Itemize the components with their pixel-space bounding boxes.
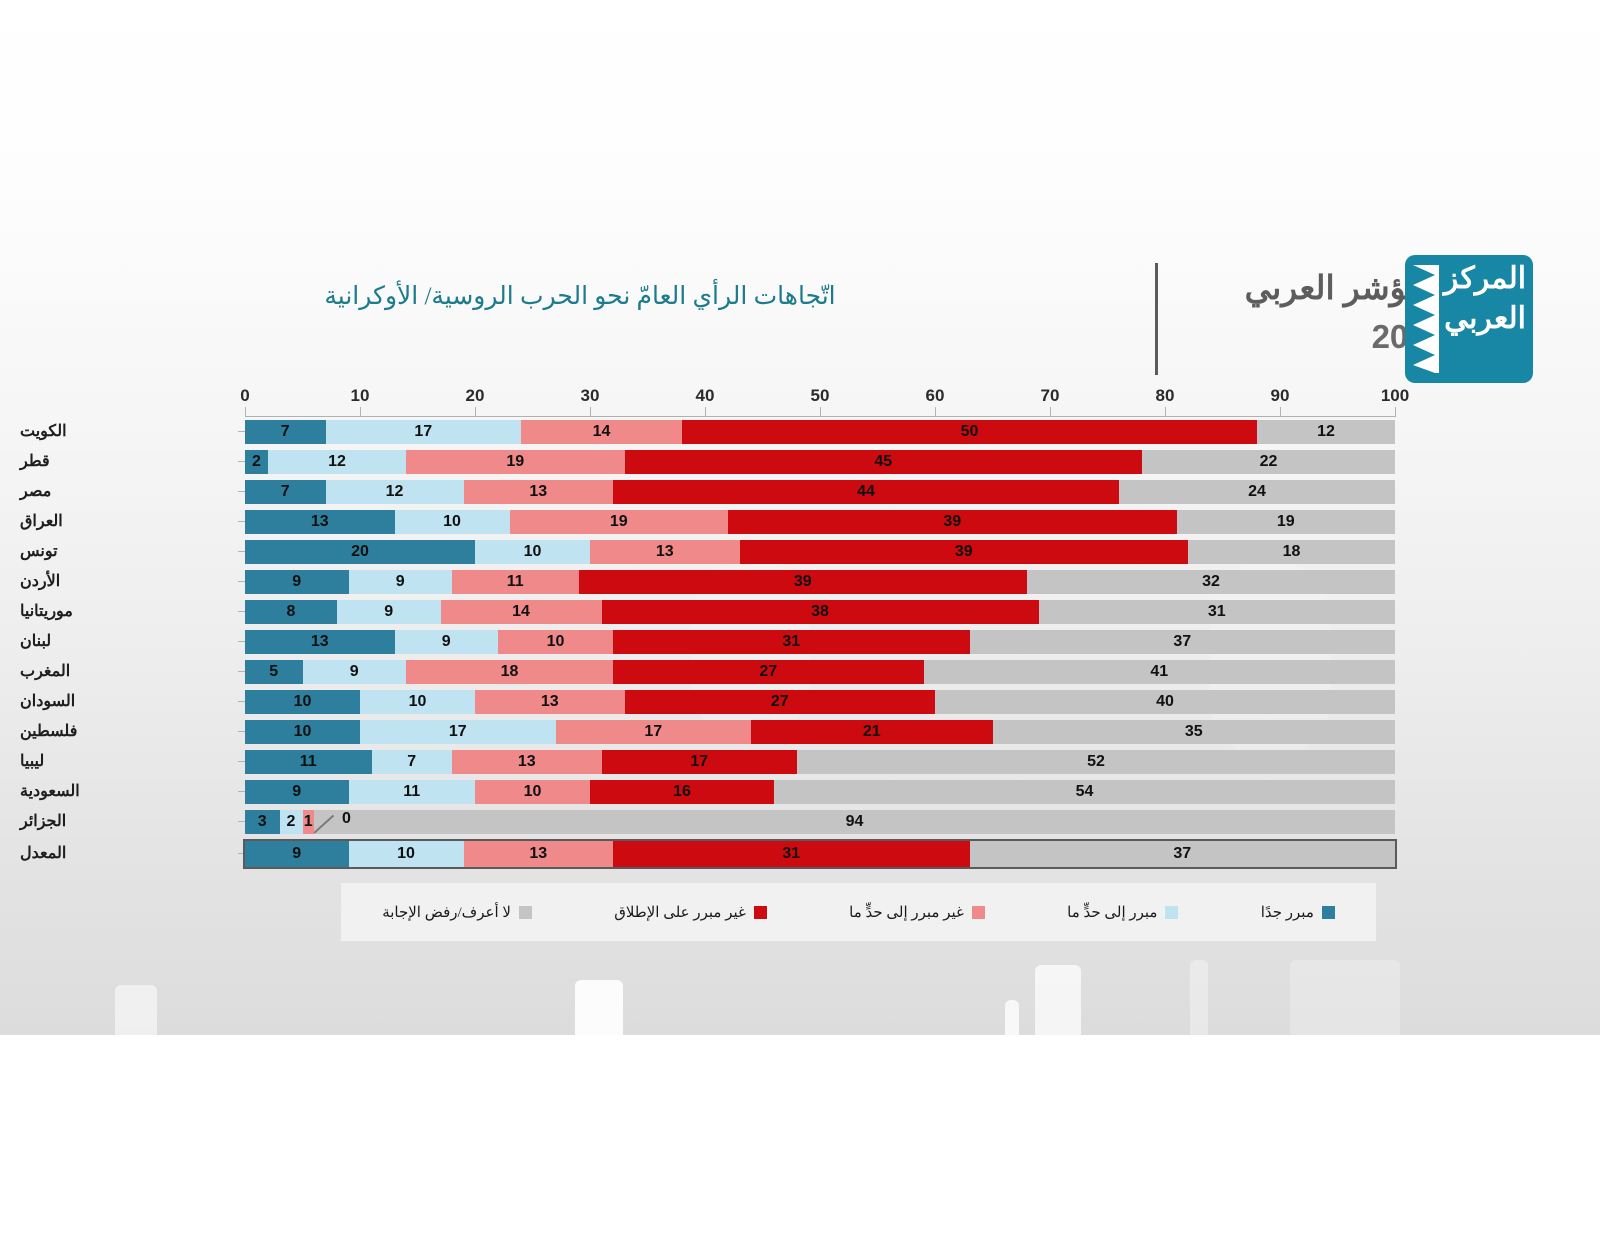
bar-segment[interactable]: 14	[521, 420, 682, 444]
stacked-bar[interactable]: 1010132740	[245, 690, 1395, 714]
bar-value-label: 40	[1156, 693, 1174, 711]
bar-segment[interactable]: 31	[1039, 600, 1396, 624]
bar-segment[interactable]: 9	[395, 630, 499, 654]
bar-value-label: 2	[252, 453, 261, 471]
bar-value-label: 13	[311, 513, 329, 531]
y-tickmark	[238, 521, 245, 522]
x-tick-label: 70	[1020, 385, 1080, 407]
x-tick-label: 50	[790, 385, 850, 407]
chart-row: قطر212194522	[0, 447, 1600, 477]
bar-value-label: 14	[593, 423, 611, 441]
bar-segment[interactable]: 40	[935, 690, 1395, 714]
bar-value-label: 9	[442, 633, 451, 651]
category-label: فلسطين	[20, 717, 225, 747]
bar-segment[interactable]: 22	[1142, 450, 1395, 474]
background-shape	[1290, 960, 1400, 1100]
bar-value-label: 17	[644, 723, 662, 741]
bar-segment[interactable]: 9	[245, 780, 349, 804]
bar-segment[interactable]: 9	[303, 660, 407, 684]
chart-row: فلسطين1017172135	[0, 717, 1600, 747]
bar-segment[interactable]: 1	[303, 810, 315, 834]
bar-value-label: 7	[281, 483, 290, 501]
bar-segment[interactable]: 10	[475, 780, 590, 804]
bar-segment[interactable]: 2	[280, 810, 303, 834]
bar-value-label: 27	[771, 693, 789, 711]
chart-row: لبنان139103137	[0, 627, 1600, 657]
bar-segment[interactable]: 17	[360, 720, 556, 744]
logo-arabic-text: المركز العربي	[1441, 259, 1529, 379]
x-tick-label: 20	[445, 385, 505, 407]
y-tickmark	[238, 853, 245, 854]
bar-value-label: 17	[690, 753, 708, 771]
bar-value-label: 10	[547, 633, 565, 651]
x-tickmark	[360, 407, 361, 416]
bar-value-label: 37	[1173, 633, 1191, 651]
bar-segment[interactable]: 13	[452, 750, 602, 774]
y-tickmark	[238, 431, 245, 432]
bar-value-label: 41	[1150, 663, 1168, 681]
legend-label: مبرر إلى حدٍّ ما	[1067, 903, 1157, 922]
x-tick-label: 80	[1135, 385, 1195, 407]
bar-value-label: 5	[269, 663, 278, 681]
bar-segment[interactable]: 11	[452, 570, 579, 594]
background-shape	[115, 985, 157, 1105]
bar-segment[interactable]: 10	[245, 690, 360, 714]
bar-segment[interactable]: 38	[602, 600, 1039, 624]
legend-swatch	[1322, 906, 1335, 919]
bar-segment[interactable]: 21	[751, 720, 993, 744]
bar-value-label: 10	[397, 845, 415, 863]
bar-value-label: 9	[396, 573, 405, 591]
bar-segment[interactable]: 14	[441, 600, 602, 624]
bar-value-label: 10	[294, 693, 312, 711]
y-tickmark	[238, 731, 245, 732]
bar-value-label: 10	[443, 513, 461, 531]
bar-segment[interactable]: 9	[245, 841, 349, 867]
bar-value-label: 22	[1260, 453, 1278, 471]
bar-segment[interactable]: 50	[682, 420, 1257, 444]
x-tick-label: 60	[905, 385, 965, 407]
stacked-bar[interactable]: 1017172135	[245, 720, 1395, 744]
stacked-bar[interactable]: 717145012	[245, 420, 1395, 444]
bar-value-label: 13	[656, 543, 674, 561]
x-tickmark	[705, 407, 706, 416]
chart-row: الكويت717145012	[0, 417, 1600, 447]
bar-segment[interactable]: 37	[970, 630, 1396, 654]
bar-segment[interactable]: 13	[245, 510, 395, 534]
bar-value-label: 94	[846, 813, 864, 831]
x-tick-label: 10	[330, 385, 390, 407]
brand-year: 2022	[1165, 313, 1445, 361]
stacked-bar[interactable]: 212194522	[245, 450, 1395, 474]
bar-value-label: 18	[1283, 543, 1301, 561]
stacked-bar[interactable]: 139103137	[245, 630, 1395, 654]
x-tickmark	[1050, 407, 1051, 416]
bar-value-label: 44	[857, 483, 875, 501]
bar-segment[interactable]: 13	[475, 690, 625, 714]
category-label: السودان	[20, 687, 225, 717]
bar-segment[interactable]: 24	[1119, 480, 1395, 504]
slide: اتّجاهات الرأي العامّ نحو الحرب الروسية/…	[0, 0, 1600, 1236]
bar-segment[interactable]: 13	[464, 841, 614, 867]
bar-segment[interactable]: 18	[1188, 540, 1395, 564]
bar-value-label: 12	[1317, 423, 1335, 441]
bar-segment[interactable]: 17	[556, 720, 752, 744]
category-label: ليبيا	[20, 747, 225, 777]
y-tickmark	[238, 611, 245, 612]
bar-value-label: 16	[673, 783, 691, 801]
bar-segment[interactable]: 7	[245, 420, 326, 444]
bar-segment[interactable]: 19	[1177, 510, 1396, 534]
stacked-bar[interactable]: 1310193919	[245, 510, 1395, 534]
bar-segment[interactable]: 27	[625, 690, 936, 714]
bar-value-label: 20	[351, 543, 369, 561]
bar-segment[interactable]: 12	[1257, 420, 1395, 444]
bar-segment[interactable]: 35	[993, 720, 1396, 744]
bar-value-label: 9	[292, 573, 301, 591]
x-tickmark	[1280, 407, 1281, 416]
bar-value-label: 7	[407, 753, 416, 771]
legend-swatch	[972, 906, 985, 919]
legend-swatch	[519, 906, 532, 919]
bar-value-label: 10	[524, 543, 542, 561]
background-shape	[1005, 1000, 1019, 1050]
bar-value-label: 21	[863, 723, 881, 741]
bar-value-label: 13	[311, 633, 329, 651]
bar-value-label: 54	[1076, 783, 1094, 801]
bar-segment[interactable]: 52	[797, 750, 1395, 774]
bar-value-label: 10	[524, 783, 542, 801]
bar-value-label: 37	[1173, 845, 1191, 863]
bar-segment[interactable]: 7	[372, 750, 453, 774]
y-tickmark	[238, 761, 245, 762]
bar-value-label: 13	[529, 483, 547, 501]
x-tick-label: 40	[675, 385, 735, 407]
bar-value-label: 9	[292, 783, 301, 801]
bar-value-label: 14	[512, 603, 530, 621]
chart-rows: الكويت717145012قطر212194522مصر712134424ا…	[0, 417, 1600, 871]
category-label: الأردن	[20, 567, 225, 597]
bar-value-label: 39	[955, 543, 973, 561]
bar-segment[interactable]: 13	[590, 540, 740, 564]
bar-value-label: 2	[287, 813, 296, 831]
x-tickmark	[820, 407, 821, 416]
bar-value-label: 52	[1087, 753, 1105, 771]
bar-segment[interactable]: 10	[245, 720, 360, 744]
chart-row: تونس2010133918	[0, 537, 1600, 567]
chart-row: الجزائر321940	[0, 807, 1600, 837]
chart-row: مصر712134424	[0, 477, 1600, 507]
bar-segment[interactable]: 27	[613, 660, 924, 684]
bar-value-label: 13	[529, 845, 547, 863]
chart-row: المغرب59182741	[0, 657, 1600, 687]
logo-zigzag-icon	[1413, 265, 1439, 373]
bar-segment[interactable]: 12	[268, 450, 406, 474]
legend-label: مبرر جدًا	[1261, 903, 1314, 922]
y-tickmark	[238, 491, 245, 492]
bar-value-label: 11	[403, 783, 420, 801]
bar-value-label: 8	[287, 603, 296, 621]
bar-segment[interactable]: 37	[970, 841, 1396, 867]
category-label: العراق	[20, 507, 225, 537]
x-tickmark	[590, 407, 591, 416]
legend-label: لا أعرف/رفض الإجابة	[382, 903, 511, 922]
stacked-bar[interactable]: 117131752	[245, 750, 1395, 774]
arab-center-logo: المركز العربي	[1405, 255, 1533, 383]
brand-divider	[1155, 263, 1158, 375]
bar-segment[interactable]: 39	[740, 540, 1189, 564]
bar-segment[interactable]: 39	[579, 570, 1028, 594]
bar-value-label: 9	[292, 845, 301, 863]
stacked-bar-chart: 0102030405060708090100 الكويت717145012قط…	[0, 385, 1600, 945]
stacked-bar[interactable]: 59182741	[245, 660, 1395, 684]
bar-value-label: 50	[961, 423, 979, 441]
chart-row: السعودية911101654	[0, 777, 1600, 807]
bar-value-label: 13	[518, 753, 536, 771]
y-tickmark	[238, 701, 245, 702]
stacked-bar[interactable]: 99113932	[245, 570, 1395, 594]
bar-segment[interactable]: 10	[498, 630, 613, 654]
bar-segment[interactable]: 16	[590, 780, 774, 804]
bar-value-label: 13	[541, 693, 559, 711]
x-tickmark	[245, 407, 246, 416]
legend-item[interactable]: مبرر إلى حدٍّ ما	[1067, 903, 1178, 922]
x-tickmark	[1165, 407, 1166, 416]
bar-value-label: 7	[281, 423, 290, 441]
y-tickmark	[238, 641, 245, 642]
bar-value-label: 39	[943, 513, 961, 531]
stacked-bar[interactable]: 2010133918	[245, 540, 1395, 564]
category-label: المعدل	[20, 837, 225, 871]
bar-segment[interactable]: 11	[245, 750, 372, 774]
bar-value-label: 11	[507, 573, 524, 591]
bar-value-label: 38	[811, 603, 829, 621]
legend-label: غير مبرر على الإطلاق	[614, 903, 746, 922]
bar-segment[interactable]: 12	[326, 480, 464, 504]
x-tick-label: 100	[1365, 385, 1425, 407]
bar-segment[interactable]: 41	[924, 660, 1396, 684]
legend-swatch	[1165, 906, 1178, 919]
bar-segment[interactable]: 18	[406, 660, 613, 684]
bar-segment[interactable]: 11	[349, 780, 476, 804]
bar-value-label: 1	[304, 813, 313, 831]
category-label: المغرب	[20, 657, 225, 687]
bar-segment[interactable]: 39	[728, 510, 1177, 534]
y-tickmark	[238, 551, 245, 552]
legend-item[interactable]: مبرر جدًا	[1261, 903, 1335, 922]
bar-segment[interactable]: 10	[349, 841, 464, 867]
legend-item[interactable]: غير مبرر على الإطلاق	[614, 903, 767, 922]
bar-segment[interactable]: 54	[774, 780, 1395, 804]
bar-segment[interactable]: 2	[245, 450, 268, 474]
bar-value-label: 39	[794, 573, 812, 591]
chart-row: السودان1010132740	[0, 687, 1600, 717]
y-tickmark	[238, 821, 245, 822]
x-tickmark	[935, 407, 936, 416]
background-shape	[1190, 960, 1208, 1100]
category-label: الكويت	[20, 417, 225, 447]
bar-segment[interactable]: 20	[245, 540, 475, 564]
bar-value-label: 27	[759, 663, 777, 681]
x-tick-label: 90	[1250, 385, 1310, 407]
category-label: قطر	[20, 447, 225, 477]
brand-block: المؤشر العربي 2022 المركز العربي	[1155, 255, 1555, 385]
bar-segment[interactable]: 8	[245, 600, 337, 624]
category-label: لبنان	[20, 627, 225, 657]
chart-title: اتّجاهات الرأي العامّ نحو الحرب الروسية/…	[300, 275, 860, 319]
x-tickmark	[1395, 407, 1396, 416]
chart-legend: مبرر جدًامبرر إلى حدٍّ ماغير مبرر إلى حد…	[340, 882, 1377, 942]
bar-value-label: 19	[1277, 513, 1295, 531]
x-tick-label: 0	[215, 385, 275, 407]
bar-segment[interactable]: 44	[613, 480, 1119, 504]
bar-segment[interactable]: 9	[349, 570, 453, 594]
bar-segment[interactable]: 31	[613, 841, 970, 867]
bar-segment[interactable]: 17	[326, 420, 522, 444]
bar-value-label: 32	[1202, 573, 1220, 591]
bar-value-label: 3	[258, 813, 267, 831]
stacked-bar[interactable]: 910133137	[245, 841, 1395, 867]
y-tickmark	[238, 671, 245, 672]
bar-value-label: 18	[501, 663, 519, 681]
category-label: مصر	[20, 477, 225, 507]
stacked-bar[interactable]: 321940	[245, 810, 1395, 834]
bar-segment[interactable]: 13	[464, 480, 614, 504]
brand-name: المؤشر العربي	[1165, 265, 1445, 311]
bar-segment[interactable]: 31	[613, 630, 970, 654]
chart-row: العراق1310193919	[0, 507, 1600, 537]
bar-value-label: 12	[328, 453, 346, 471]
y-tickmark	[238, 791, 245, 792]
bar-segment[interactable]: 19	[406, 450, 625, 474]
chart-row: ليبيا117131752	[0, 747, 1600, 777]
bar-value-label: 45	[874, 453, 892, 471]
bar-value-label: 31	[782, 633, 800, 651]
bar-value-label: 31	[1208, 603, 1226, 621]
bar-value-label: 0	[342, 810, 351, 828]
bar-segment[interactable]: 94	[314, 810, 1395, 834]
bar-value-label: 9	[350, 663, 359, 681]
bar-segment[interactable]: 10	[395, 510, 510, 534]
background-shape	[575, 980, 623, 1120]
stacked-bar[interactable]: 712134424	[245, 480, 1395, 504]
bar-segment[interactable]: 9	[245, 570, 349, 594]
bar-value-label: 10	[409, 693, 427, 711]
chart-row: المعدل910133137	[0, 837, 1600, 871]
bar-segment[interactable]: 19	[510, 510, 729, 534]
category-label: الجزائر	[20, 807, 225, 837]
legend-label: غير مبرر إلى حدٍّ ما	[849, 903, 964, 922]
bar-segment[interactable]: 3	[245, 810, 280, 834]
stacked-bar[interactable]: 89143831	[245, 600, 1395, 624]
chart-row: موريتانيا89143831	[0, 597, 1600, 627]
legend-item[interactable]: غير مبرر إلى حدٍّ ما	[849, 903, 985, 922]
bar-segment[interactable]: 5	[245, 660, 303, 684]
bar-value-label: 17	[414, 423, 432, 441]
bar-segment[interactable]: 45	[625, 450, 1143, 474]
bar-value-label: 12	[386, 483, 404, 501]
background-shape	[1035, 965, 1081, 1070]
bar-value-label: 11	[300, 753, 317, 771]
stacked-bar[interactable]: 911101654	[245, 780, 1395, 804]
chart-row: الأردن99113932	[0, 567, 1600, 597]
category-label: موريتانيا	[20, 597, 225, 627]
bar-value-label: 24	[1248, 483, 1266, 501]
bar-value-label: 9	[384, 603, 393, 621]
x-tickmark	[475, 407, 476, 416]
bar-segment[interactable]: 10	[475, 540, 590, 564]
bar-segment[interactable]: 9	[337, 600, 441, 624]
bar-segment[interactable]: 13	[245, 630, 395, 654]
bar-value-label: 35	[1185, 723, 1203, 741]
legend-swatch	[754, 906, 767, 919]
legend-item[interactable]: لا أعرف/رفض الإجابة	[382, 903, 532, 922]
x-tick-label: 30	[560, 385, 620, 407]
bar-segment[interactable]: 7	[245, 480, 326, 504]
y-tickmark	[238, 461, 245, 462]
bar-segment[interactable]: 10	[360, 690, 475, 714]
bar-value-label: 19	[506, 453, 524, 471]
bar-value-label: 17	[449, 723, 467, 741]
bar-value-label: 19	[610, 513, 628, 531]
category-label: السعودية	[20, 777, 225, 807]
bar-value-label: 10	[294, 723, 312, 741]
y-tickmark	[238, 581, 245, 582]
category-label: تونس	[20, 537, 225, 567]
bar-value-label: 31	[782, 845, 800, 863]
bar-segment[interactable]: 17	[602, 750, 798, 774]
bar-segment[interactable]: 32	[1027, 570, 1395, 594]
